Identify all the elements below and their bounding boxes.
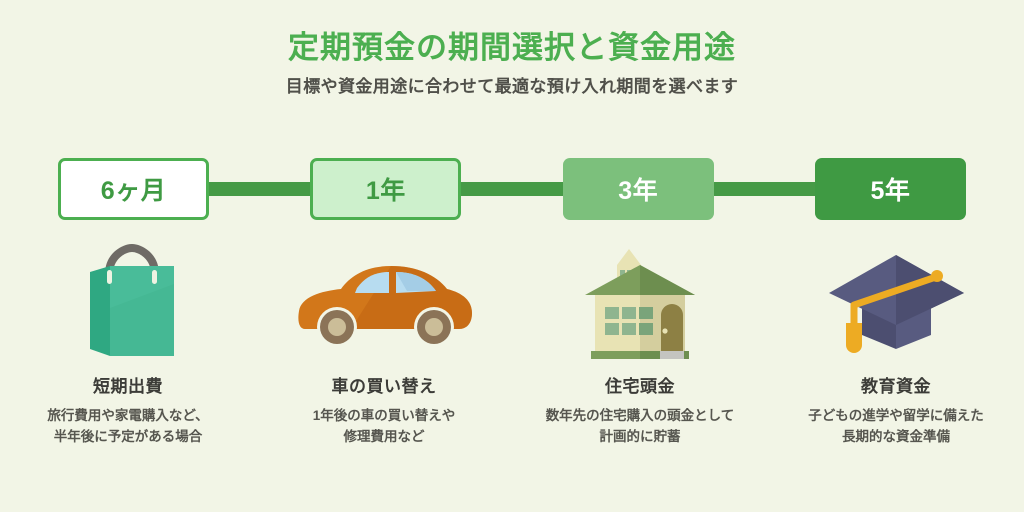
column-description-line2: 長期的な資金準備 (842, 429, 950, 444)
period-label-3years: 3年 (618, 171, 658, 207)
shopping-bag-icon (76, 240, 181, 365)
column-description-line1: 旅行費用や家電購入など、 (47, 408, 208, 423)
column-description-line2: 計画的に貯蓄 (600, 429, 681, 444)
period-label-5years: 5年 (871, 171, 911, 207)
column-description: 1年後の車の買い替えや 修理費用など (264, 406, 504, 447)
period-box-1year[interactable]: 1年 (310, 158, 461, 220)
period-box-5years[interactable]: 5年 (815, 158, 966, 220)
timeline-period-row: 6ヶ月 1年 3年 5年 (58, 158, 966, 220)
purpose-column-house: 住宅頭金 数年先の住宅購入の頭金として 計画的に貯蓄 (512, 240, 768, 447)
column-title: 教育資金 (861, 377, 931, 397)
column-description: 数年先の住宅購入の頭金として 計画的に貯蓄 (520, 406, 760, 447)
column-description-line1: 数年先の住宅購入の頭金として (546, 408, 735, 423)
purpose-column-car: 車の買い替え 1年後の車の買い替えや 修理費用など (256, 240, 512, 447)
purpose-column-education: 教育資金 子どもの進学や留学に備えた 長期的な資金準備 (768, 240, 1024, 447)
column-description: 旅行費用や家電購入など、 半年後に予定がある場合 (8, 406, 248, 447)
column-description-line1: 子どもの進学や留学に備えた (808, 408, 984, 423)
house-icon (581, 240, 699, 365)
infographic-canvas: 定期預金の期間選択と資金用途 目標や資金用途に合わせて最適な預け入れ期間を選べま… (0, 0, 1024, 512)
header: 定期預金の期間選択と資金用途 目標や資金用途に合わせて最適な預け入れ期間を選べま… (0, 0, 1024, 98)
purpose-column-short-term: 短期出費 旅行費用や家電購入など、 半年後に予定がある場合 (0, 240, 256, 447)
column-title: 住宅頭金 (605, 377, 675, 397)
column-title: 車の買い替え (332, 377, 437, 397)
page-subtitle: 目標や資金用途に合わせて最適な預け入れ期間を選べます (0, 66, 1024, 97)
column-description-line2: 修理費用など (344, 429, 425, 444)
period-label-6months: 6ヶ月 (101, 171, 166, 207)
page-title: 定期預金の期間選択と資金用途 (0, 0, 1024, 66)
column-description-line1: 1年後の車の買い替えや (313, 408, 456, 423)
period-box-6months[interactable]: 6ヶ月 (58, 158, 209, 220)
car-icon (291, 240, 477, 365)
timeline: 6ヶ月 1年 3年 5年 (58, 158, 966, 220)
column-description: 子どもの進学や留学に備えた 長期的な資金準備 (776, 406, 1016, 447)
period-label-1year: 1年 (366, 171, 406, 207)
column-title: 短期出費 (93, 377, 163, 397)
period-box-3years[interactable]: 3年 (563, 158, 714, 220)
graduation-cap-icon (824, 240, 969, 365)
column-description-line2: 半年後に予定がある場合 (54, 429, 203, 444)
purpose-columns: 短期出費 旅行費用や家電購入など、 半年後に予定がある場合 (0, 240, 1024, 447)
